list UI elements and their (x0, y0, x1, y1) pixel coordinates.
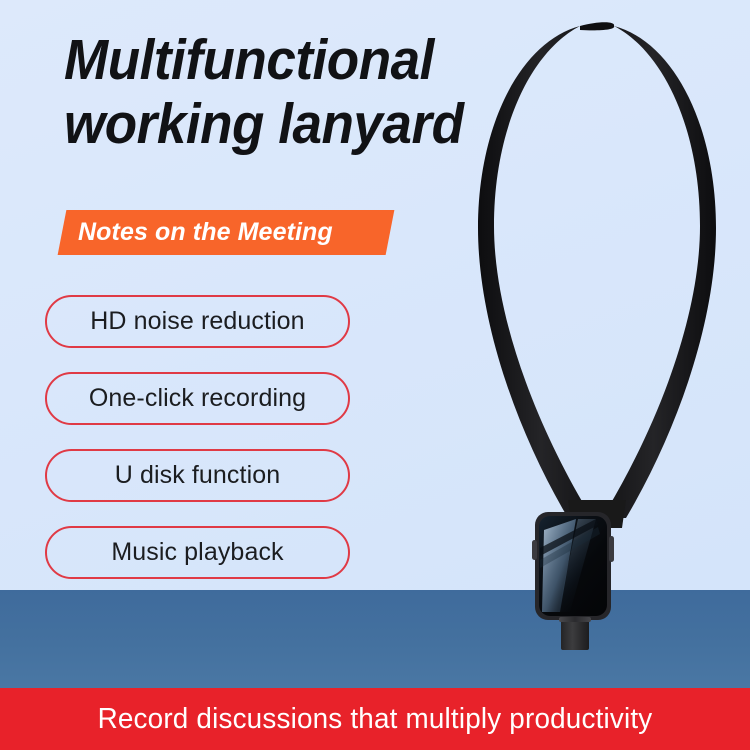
product-poster: Multifunctional working lanyard Notes on… (0, 0, 750, 750)
usb-connector (561, 618, 589, 650)
feature-pill-music-playback: Music playback (45, 526, 350, 579)
usb-connector-collar (559, 617, 591, 622)
product-illustration (420, 0, 750, 670)
device-side-button-right (609, 536, 614, 562)
footer-tagline: Record discussions that multiply product… (15, 688, 735, 750)
ribbon-label: Notes on the Meeting (78, 210, 398, 255)
lanyard-top-arc (580, 22, 614, 30)
lanyard-right-strap (602, 26, 716, 518)
feature-pill-hd-noise-reduction: HD noise reduction (45, 295, 350, 348)
device-side-button-left (532, 540, 537, 560)
feature-pill-one-click-recording: One-click recording (45, 372, 350, 425)
feature-pill-u-disk-function: U disk function (45, 449, 350, 502)
lanyard-left-strap (478, 26, 592, 518)
page-title: Multifunctional working lanyard (64, 28, 464, 156)
